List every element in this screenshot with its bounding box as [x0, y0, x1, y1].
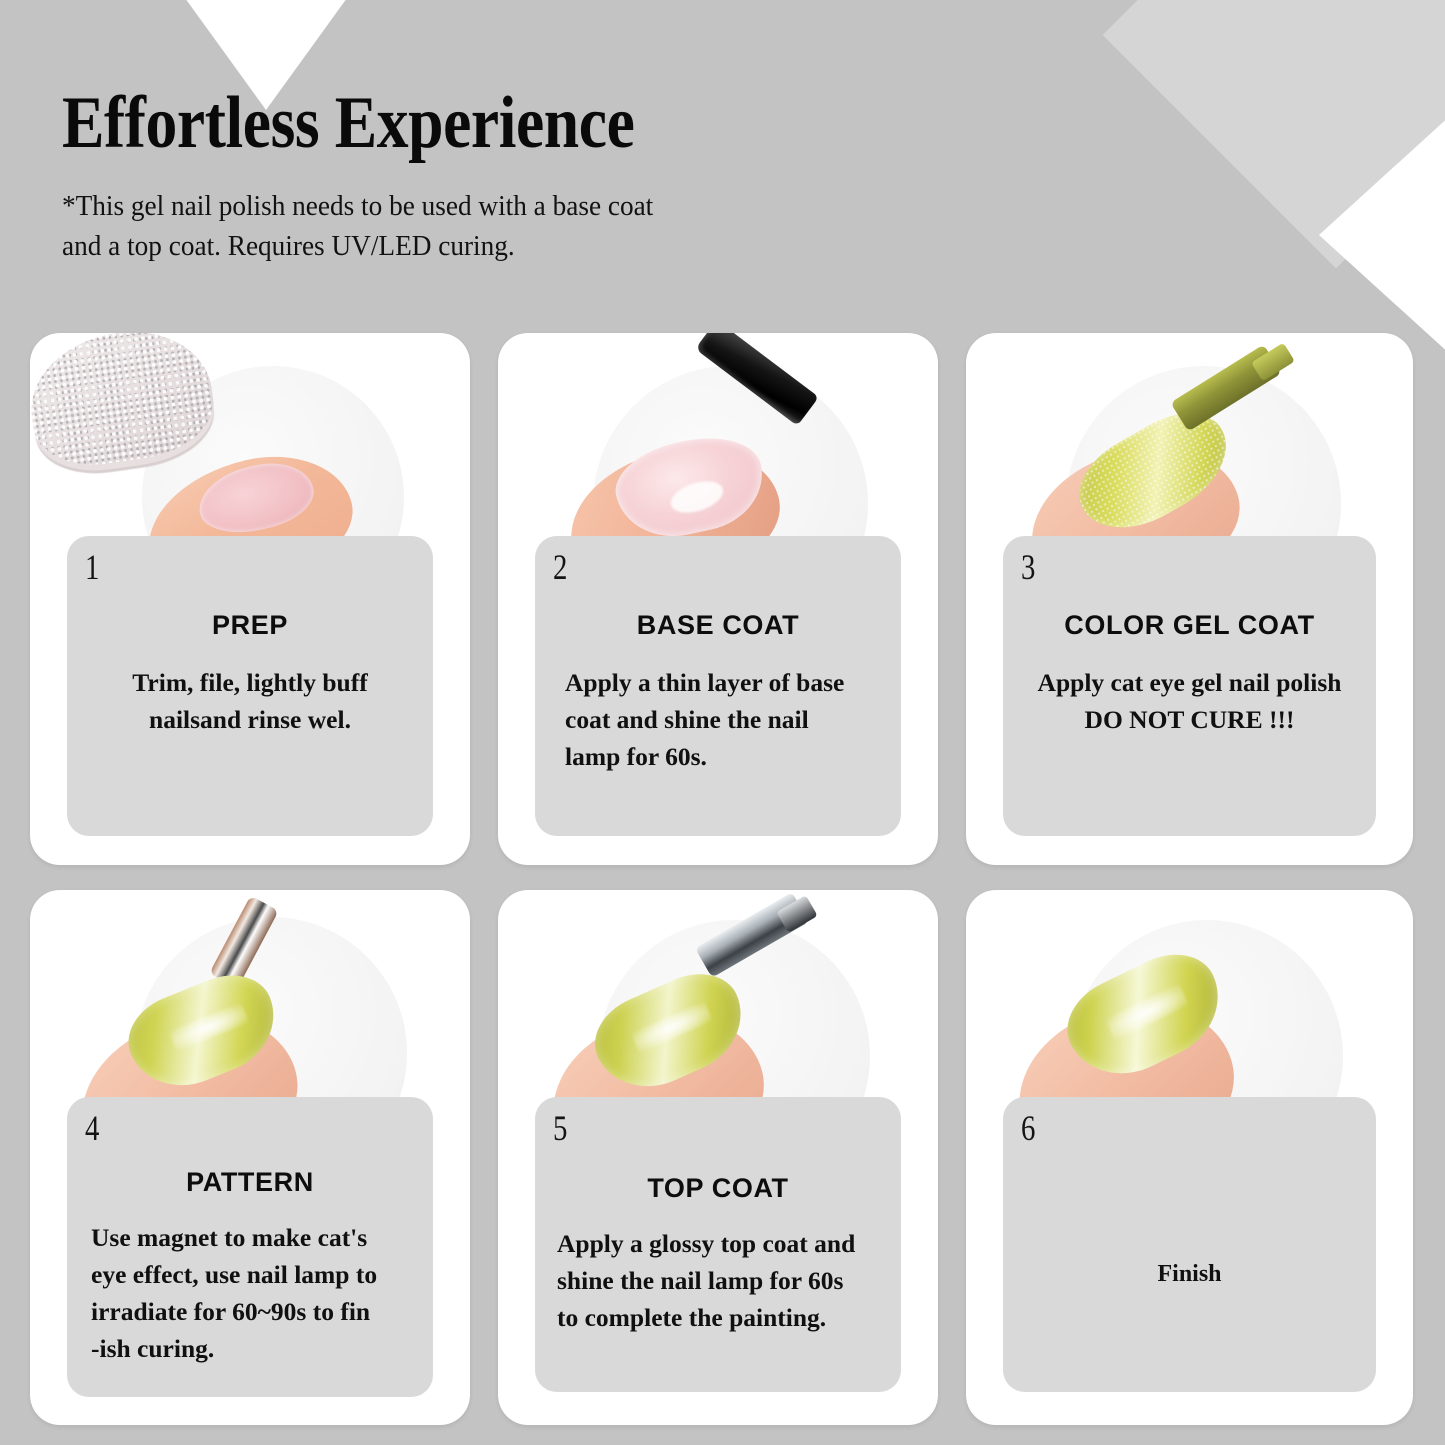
step-body: Trim, file, lightly buff nailsand rinse … — [67, 665, 433, 739]
step-panel: 6 Finish — [1003, 1097, 1376, 1392]
step-heading: TOP COAT — [535, 1173, 901, 1204]
step-heading: PREP — [67, 610, 433, 641]
step-card-6[interactable]: 6 Finish — [966, 890, 1413, 1425]
step-number: 6 — [1021, 1107, 1035, 1149]
decorative-chevron-right — [1319, 120, 1445, 350]
step-card-1[interactable]: 1 PREP Trim, file, lightly buff nailsand… — [30, 333, 470, 865]
step-body: Use magnet to make cat's eye effect, use… — [67, 1220, 433, 1368]
black-brush-illustration — [695, 333, 819, 426]
step-panel: 3 COLOR GEL COAT Apply cat eye gel nail … — [1003, 536, 1376, 836]
step-number: 4 — [85, 1107, 99, 1149]
subtitle: *This gel nail polish needs to be used w… — [62, 186, 1049, 266]
step-card-3[interactable]: 3 COLOR GEL COAT Apply cat eye gel nail … — [966, 333, 1413, 865]
step-panel: 4 PATTERN Use magnet to make cat's eye e… — [67, 1097, 433, 1397]
step-body: Apply a thin layer of base coat and shin… — [535, 665, 901, 776]
page-title: Effortless Experience — [62, 86, 965, 160]
decorative-diamond-shape — [1103, 0, 1445, 268]
step-body: Apply cat eye gel nail polish DO NOT CUR… — [1003, 665, 1376, 739]
step-panel: 5 TOP COAT Apply a glossy top coat and s… — [535, 1097, 901, 1392]
step-card-5[interactable]: 5 TOP COAT Apply a glossy top coat and s… — [498, 890, 938, 1425]
header: Effortless Experience *This gel nail pol… — [62, 86, 1112, 266]
top-right-shade — [1195, 0, 1445, 60]
step-heading: PATTERN — [67, 1167, 433, 1198]
step-number: 5 — [553, 1107, 567, 1149]
steps-grid: 1 PREP Trim, file, lightly buff nailsand… — [30, 333, 1412, 1425]
step-panel: 1 PREP Trim, file, lightly buff nailsand… — [67, 536, 433, 836]
step-body: Finish — [1003, 1257, 1376, 1292]
step-number: 1 — [85, 546, 99, 588]
buffer-pad-illustration — [30, 333, 220, 473]
step-number: 3 — [1021, 546, 1035, 588]
step-card-4[interactable]: 4 PATTERN Use magnet to make cat's eye e… — [30, 890, 470, 1425]
step-body: Apply a glossy top coat and shine the na… — [535, 1226, 901, 1337]
step-heading: COLOR GEL COAT — [1003, 610, 1376, 641]
step-number: 2 — [553, 546, 567, 588]
magnet-bar-top — [209, 896, 279, 989]
step-card-2[interactable]: 2 BASE COAT Apply a thin layer of base c… — [498, 333, 938, 865]
step-heading: BASE COAT — [535, 610, 901, 641]
step-panel: 2 BASE COAT Apply a thin layer of base c… — [535, 536, 901, 836]
